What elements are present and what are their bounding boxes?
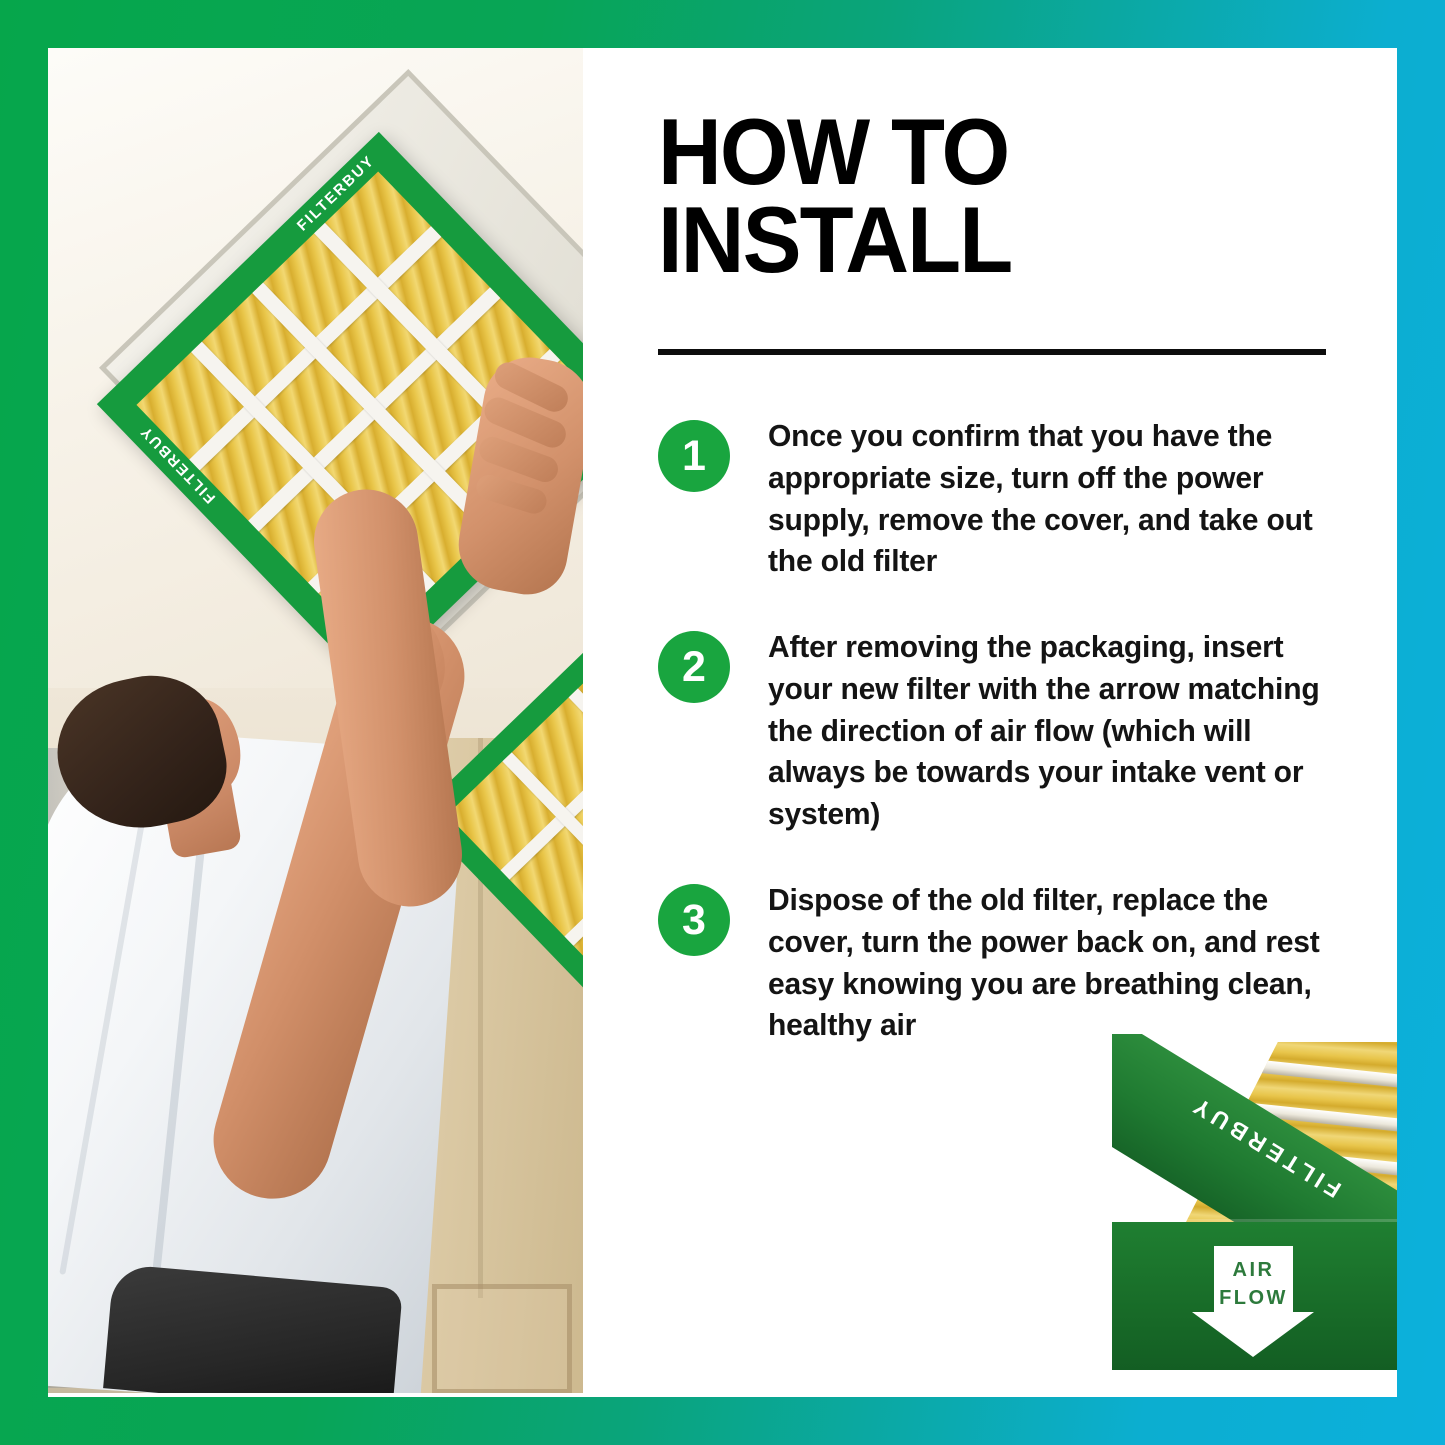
- product-filter-illustration: FILTERBUY AIR FLOW: [1112, 1034, 1397, 1397]
- arrow-head: [1192, 1312, 1314, 1357]
- air-flow-arrow-icon: AIR FLOW: [1192, 1246, 1315, 1356]
- title-divider: [658, 349, 1326, 355]
- step-number-badge-3: 3: [658, 884, 730, 956]
- white-canvas: FILTERBUY FILTERBUY: [48, 48, 1397, 1397]
- air-flow-label-line1: AIR: [1192, 1259, 1315, 1282]
- step-item-1: 1 Once you confirm that you have the app…: [583, 416, 1397, 583]
- step-number-badge-1: 1: [658, 420, 730, 492]
- installation-photo: FILTERBUY FILTERBUY: [48, 48, 583, 1393]
- step-item-3: 3 Dispose of the old filter, replace the…: [583, 880, 1397, 1047]
- door-panel: [432, 1284, 572, 1393]
- step-item-2: 2 After removing the packaging, insert y…: [583, 627, 1397, 836]
- step-text-2: After removing the packaging, insert you…: [768, 627, 1329, 836]
- air-flow-label-line2: FLOW: [1192, 1287, 1315, 1310]
- step-number-badge-2: 2: [658, 631, 730, 703]
- step-text-1: Once you confirm that you have the appro…: [768, 416, 1329, 583]
- page-title: HOW TO INSTALL: [658, 108, 1316, 285]
- gradient-frame: FILTERBUY FILTERBUY: [0, 0, 1445, 1445]
- step-text-3: Dispose of the old filter, replace the c…: [768, 880, 1329, 1047]
- steps-list: 1 Once you confirm that you have the app…: [583, 416, 1397, 1091]
